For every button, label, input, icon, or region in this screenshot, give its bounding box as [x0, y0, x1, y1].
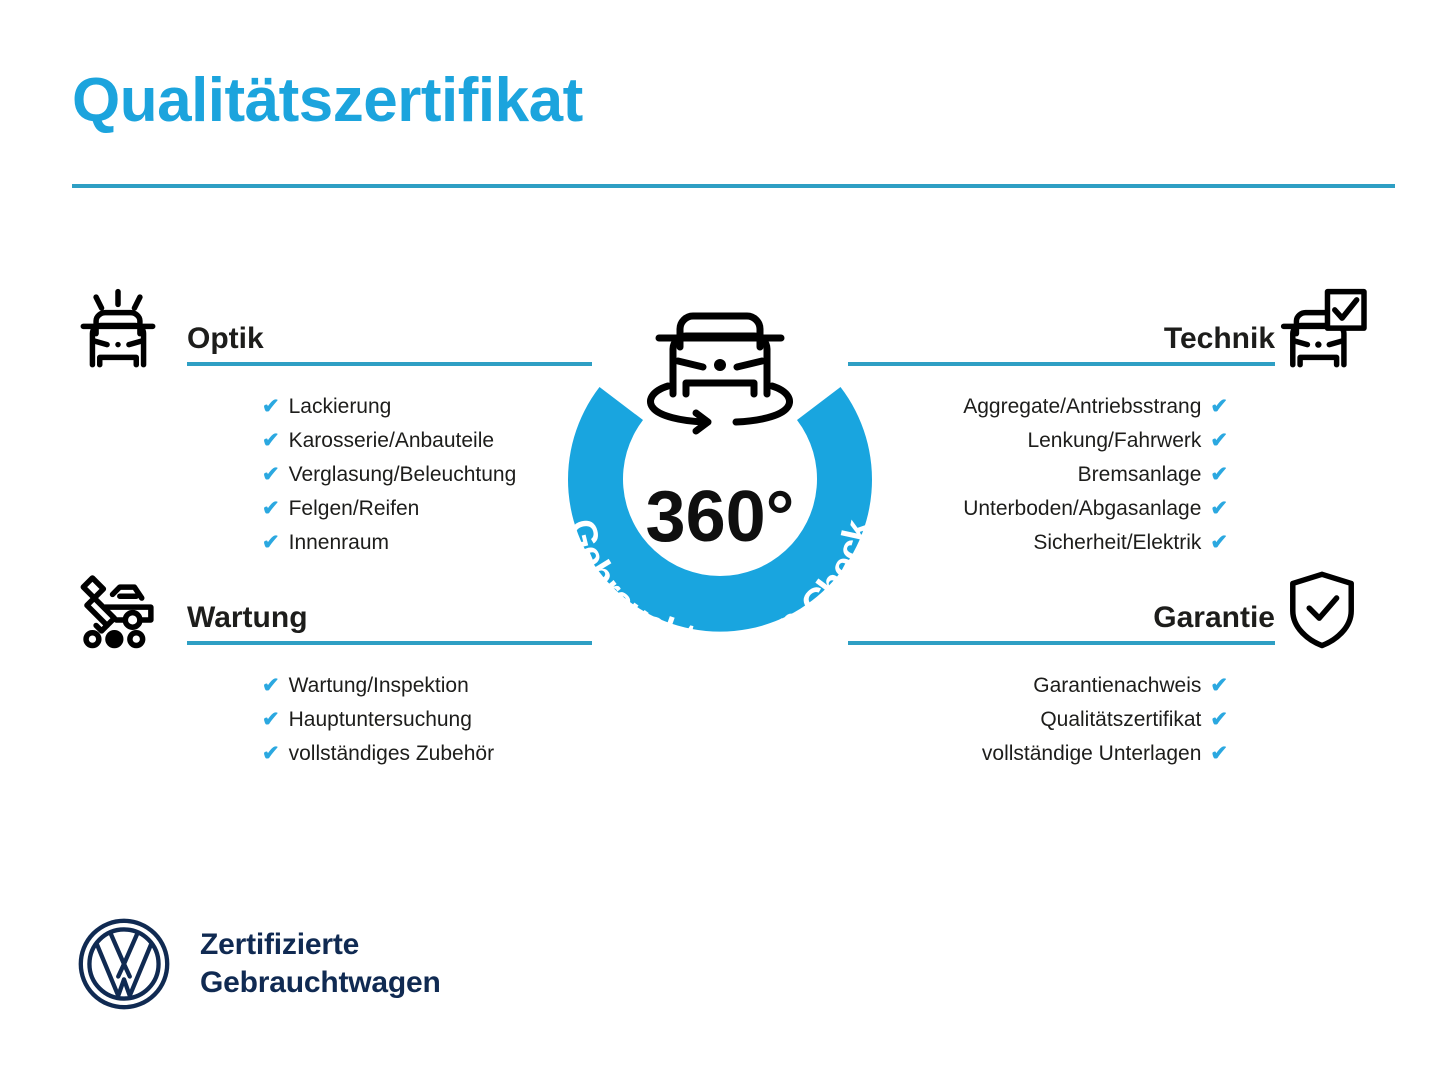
section-technik-list: Aggregate/Antriebsstrang✔ Lenkung/Fahrwe…	[848, 390, 1368, 560]
list-item-label: vollständige Unterlagen	[982, 737, 1201, 771]
section-technik-header: Technik	[848, 296, 1368, 380]
list-item-label: Lenkung/Fahrwerk	[1027, 424, 1201, 458]
check-icon: ✔	[262, 492, 280, 526]
car-rotate-icon	[650, 316, 789, 431]
check-icon: ✔	[262, 424, 280, 458]
badge-center-label: 360°	[646, 477, 795, 557]
list-item-label: Bremsanlage	[1078, 458, 1202, 492]
vw-logo-icon	[76, 916, 172, 1012]
check-icon: ✔	[262, 737, 280, 771]
list-item-label: Innenraum	[289, 526, 389, 560]
list-item-label: Wartung/Inspektion	[289, 669, 469, 703]
badge-360-check: Gebrauchtwagen-Check 360°	[528, 291, 912, 691]
check-icon: ✔	[1210, 703, 1228, 737]
section-wartung: Wartung ✔Wartung/Inspektion ✔Hauptunters…	[72, 575, 592, 771]
section-wartung-list: ✔Wartung/Inspektion ✔Hauptuntersuchung ✔…	[72, 669, 592, 771]
vw-wordmark-line2: Gebrauchtwagen	[200, 964, 441, 1002]
section-garantie-divider	[848, 641, 1275, 645]
section-garantie-header: Garantie	[848, 575, 1368, 659]
section-optik-list: ✔Lackierung ✔Karosserie/Anbauteile ✔Verg…	[72, 390, 592, 560]
car-shine-icon	[72, 288, 164, 372]
check-icon: ✔	[1210, 424, 1228, 458]
list-item-label: Sicherheit/Elektrik	[1033, 526, 1201, 560]
vw-certified-logo: Zertifizierte Gebrauchtwagen	[76, 916, 441, 1012]
list-item-label: vollständiges Zubehör	[289, 737, 494, 771]
list-item-label: Garantienachweis	[1033, 669, 1201, 703]
list-item-label: Verglasung/Beleuchtung	[289, 458, 517, 492]
check-icon: ✔	[262, 703, 280, 737]
check-icon: ✔	[1210, 390, 1228, 424]
list-item-label: Felgen/Reifen	[289, 492, 420, 526]
section-optik-title: Optik	[187, 324, 264, 354]
list-item-label: Unterboden/Abgasanlage	[963, 492, 1201, 526]
check-icon: ✔	[262, 458, 280, 492]
check-icon: ✔	[1210, 458, 1228, 492]
check-icon: ✔	[1210, 669, 1228, 703]
check-icon: ✔	[1210, 492, 1228, 526]
check-icon: ✔	[262, 669, 280, 703]
section-wartung-title: Wartung	[187, 603, 308, 633]
list-item: ✔vollständiges Zubehör	[262, 737, 592, 771]
page-title: Qualitätszertifikat	[72, 68, 583, 133]
list-item: ✔Hauptuntersuchung	[262, 703, 592, 737]
title-divider	[72, 184, 1395, 188]
list-item-label: Karosserie/Anbauteile	[289, 424, 494, 458]
list-item-label: Hauptuntersuchung	[289, 703, 472, 737]
section-optik-header: Optik	[72, 296, 592, 380]
shield-check-icon	[1276, 567, 1368, 651]
car-checkbox-icon	[1276, 288, 1368, 372]
list-item-label: Qualitätszertifikat	[1040, 703, 1201, 737]
check-icon: ✔	[1210, 526, 1228, 560]
vw-wordmark-line1: Zertifizierte	[200, 926, 441, 964]
section-garantie-title: Garantie	[1153, 603, 1275, 633]
section-optik: Optik ✔Lackierung ✔Karosserie/Anbauteile…	[72, 296, 592, 560]
section-garantie-list: Garantienachweis✔ Qualitätszertifikat✔ v…	[848, 669, 1368, 771]
section-garantie: Garantie Garantienachweis✔ Qualitätszert…	[848, 575, 1368, 771]
list-item-label: Aggregate/Antriebsstrang	[963, 390, 1201, 424]
section-technik-divider	[848, 362, 1275, 366]
vw-wordmark: Zertifizierte Gebrauchtwagen	[200, 926, 441, 1003]
list-item: vollständige Unterlagen✔	[848, 737, 1228, 771]
list-item: Qualitätszertifikat✔	[848, 703, 1228, 737]
check-icon: ✔	[262, 390, 280, 424]
check-icon: ✔	[262, 526, 280, 560]
list-item-label: Lackierung	[289, 390, 392, 424]
section-technik-title: Technik	[1164, 324, 1275, 354]
section-wartung-header: Wartung	[72, 575, 592, 659]
section-technik: Technik Aggregate/Antriebsstrang✔ Lenkun…	[848, 296, 1368, 560]
check-icon: ✔	[1210, 737, 1228, 771]
car-service-pencil-icon	[72, 567, 164, 651]
